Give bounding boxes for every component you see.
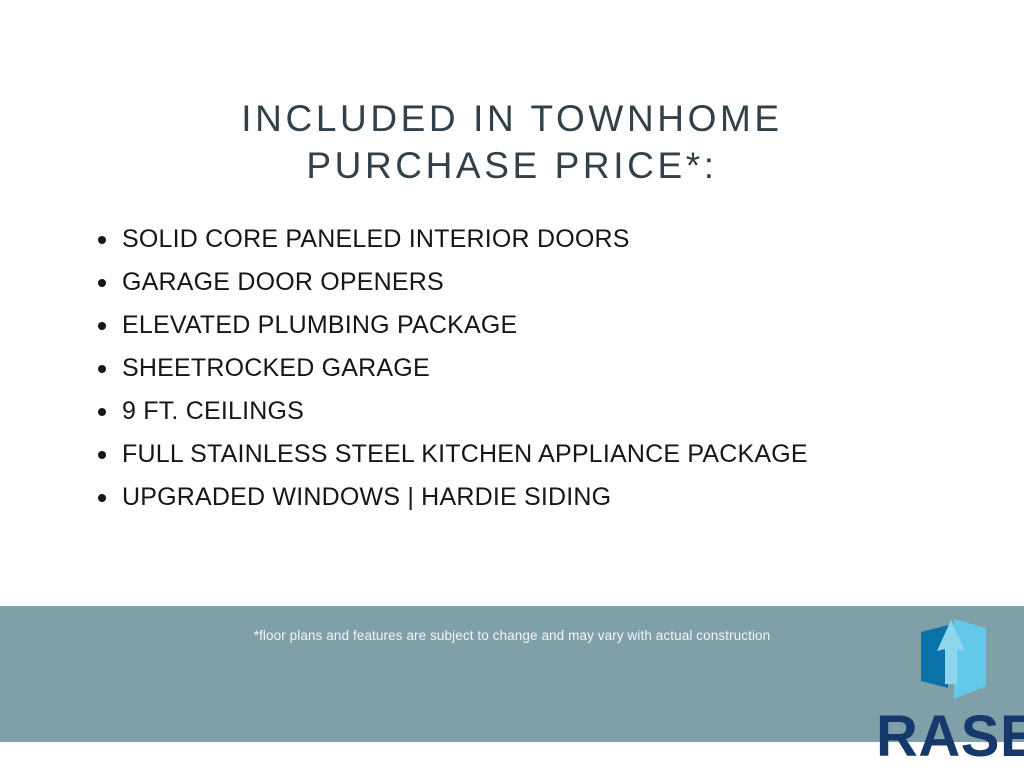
title-line-2: PURCHASE PRICE*: bbox=[0, 142, 1024, 189]
disclaimer-text: *floor plans and features are subject to… bbox=[0, 628, 1024, 643]
list-item-label: SHEETROCKED GARAGE bbox=[122, 354, 430, 382]
list-item-label: GARAGE DOOR OPENERS bbox=[122, 268, 444, 296]
presentation-slide: INCLUDED IN TOWNHOME PURCHASE PRICE*: SO… bbox=[0, 0, 1024, 768]
bullet-dot-icon bbox=[98, 365, 106, 373]
list-item: ELEVATED PLUMBING PACKAGE bbox=[92, 304, 992, 347]
list-item-label: FULL STAINLESS STEEL KITCHEN APPLIANCE P… bbox=[122, 440, 808, 468]
bullet-dot-icon bbox=[98, 322, 106, 330]
title-line-1: INCLUDED IN TOWNHOME bbox=[0, 95, 1024, 142]
bullet-dot-icon bbox=[98, 279, 106, 287]
bullet-dot-icon bbox=[98, 494, 106, 502]
bullet-dot-icon bbox=[98, 451, 106, 459]
company-logo: RASE bbox=[876, 614, 1024, 768]
logo-wordmark: RASE bbox=[876, 706, 1024, 768]
list-item: SHEETROCKED GARAGE bbox=[92, 347, 992, 390]
slide-title: INCLUDED IN TOWNHOME PURCHASE PRICE*: bbox=[0, 95, 1024, 189]
included-features-list: SOLID CORE PANELED INTERIOR DOORS GARAGE… bbox=[92, 218, 992, 519]
footer-band: *floor plans and features are subject to… bbox=[0, 606, 1024, 742]
list-item: SOLID CORE PANELED INTERIOR DOORS bbox=[92, 218, 992, 261]
bullet-dot-icon bbox=[98, 408, 106, 416]
open-book-upward-arrow-icon bbox=[908, 614, 1000, 706]
list-item-label: SOLID CORE PANELED INTERIOR DOORS bbox=[122, 225, 630, 253]
list-item: FULL STAINLESS STEEL KITCHEN APPLIANCE P… bbox=[92, 433, 992, 476]
list-item: GARAGE DOOR OPENERS bbox=[92, 261, 992, 304]
bullet-dot-icon bbox=[98, 236, 106, 244]
list-item-label: UPGRADED WINDOWS | HARDIE SIDING bbox=[122, 483, 611, 511]
list-item: UPGRADED WINDOWS | HARDIE SIDING bbox=[92, 476, 992, 519]
list-item-label: 9 FT. CEILINGS bbox=[122, 397, 304, 425]
list-item-label: ELEVATED PLUMBING PACKAGE bbox=[122, 311, 517, 339]
list-item: 9 FT. CEILINGS bbox=[92, 390, 992, 433]
